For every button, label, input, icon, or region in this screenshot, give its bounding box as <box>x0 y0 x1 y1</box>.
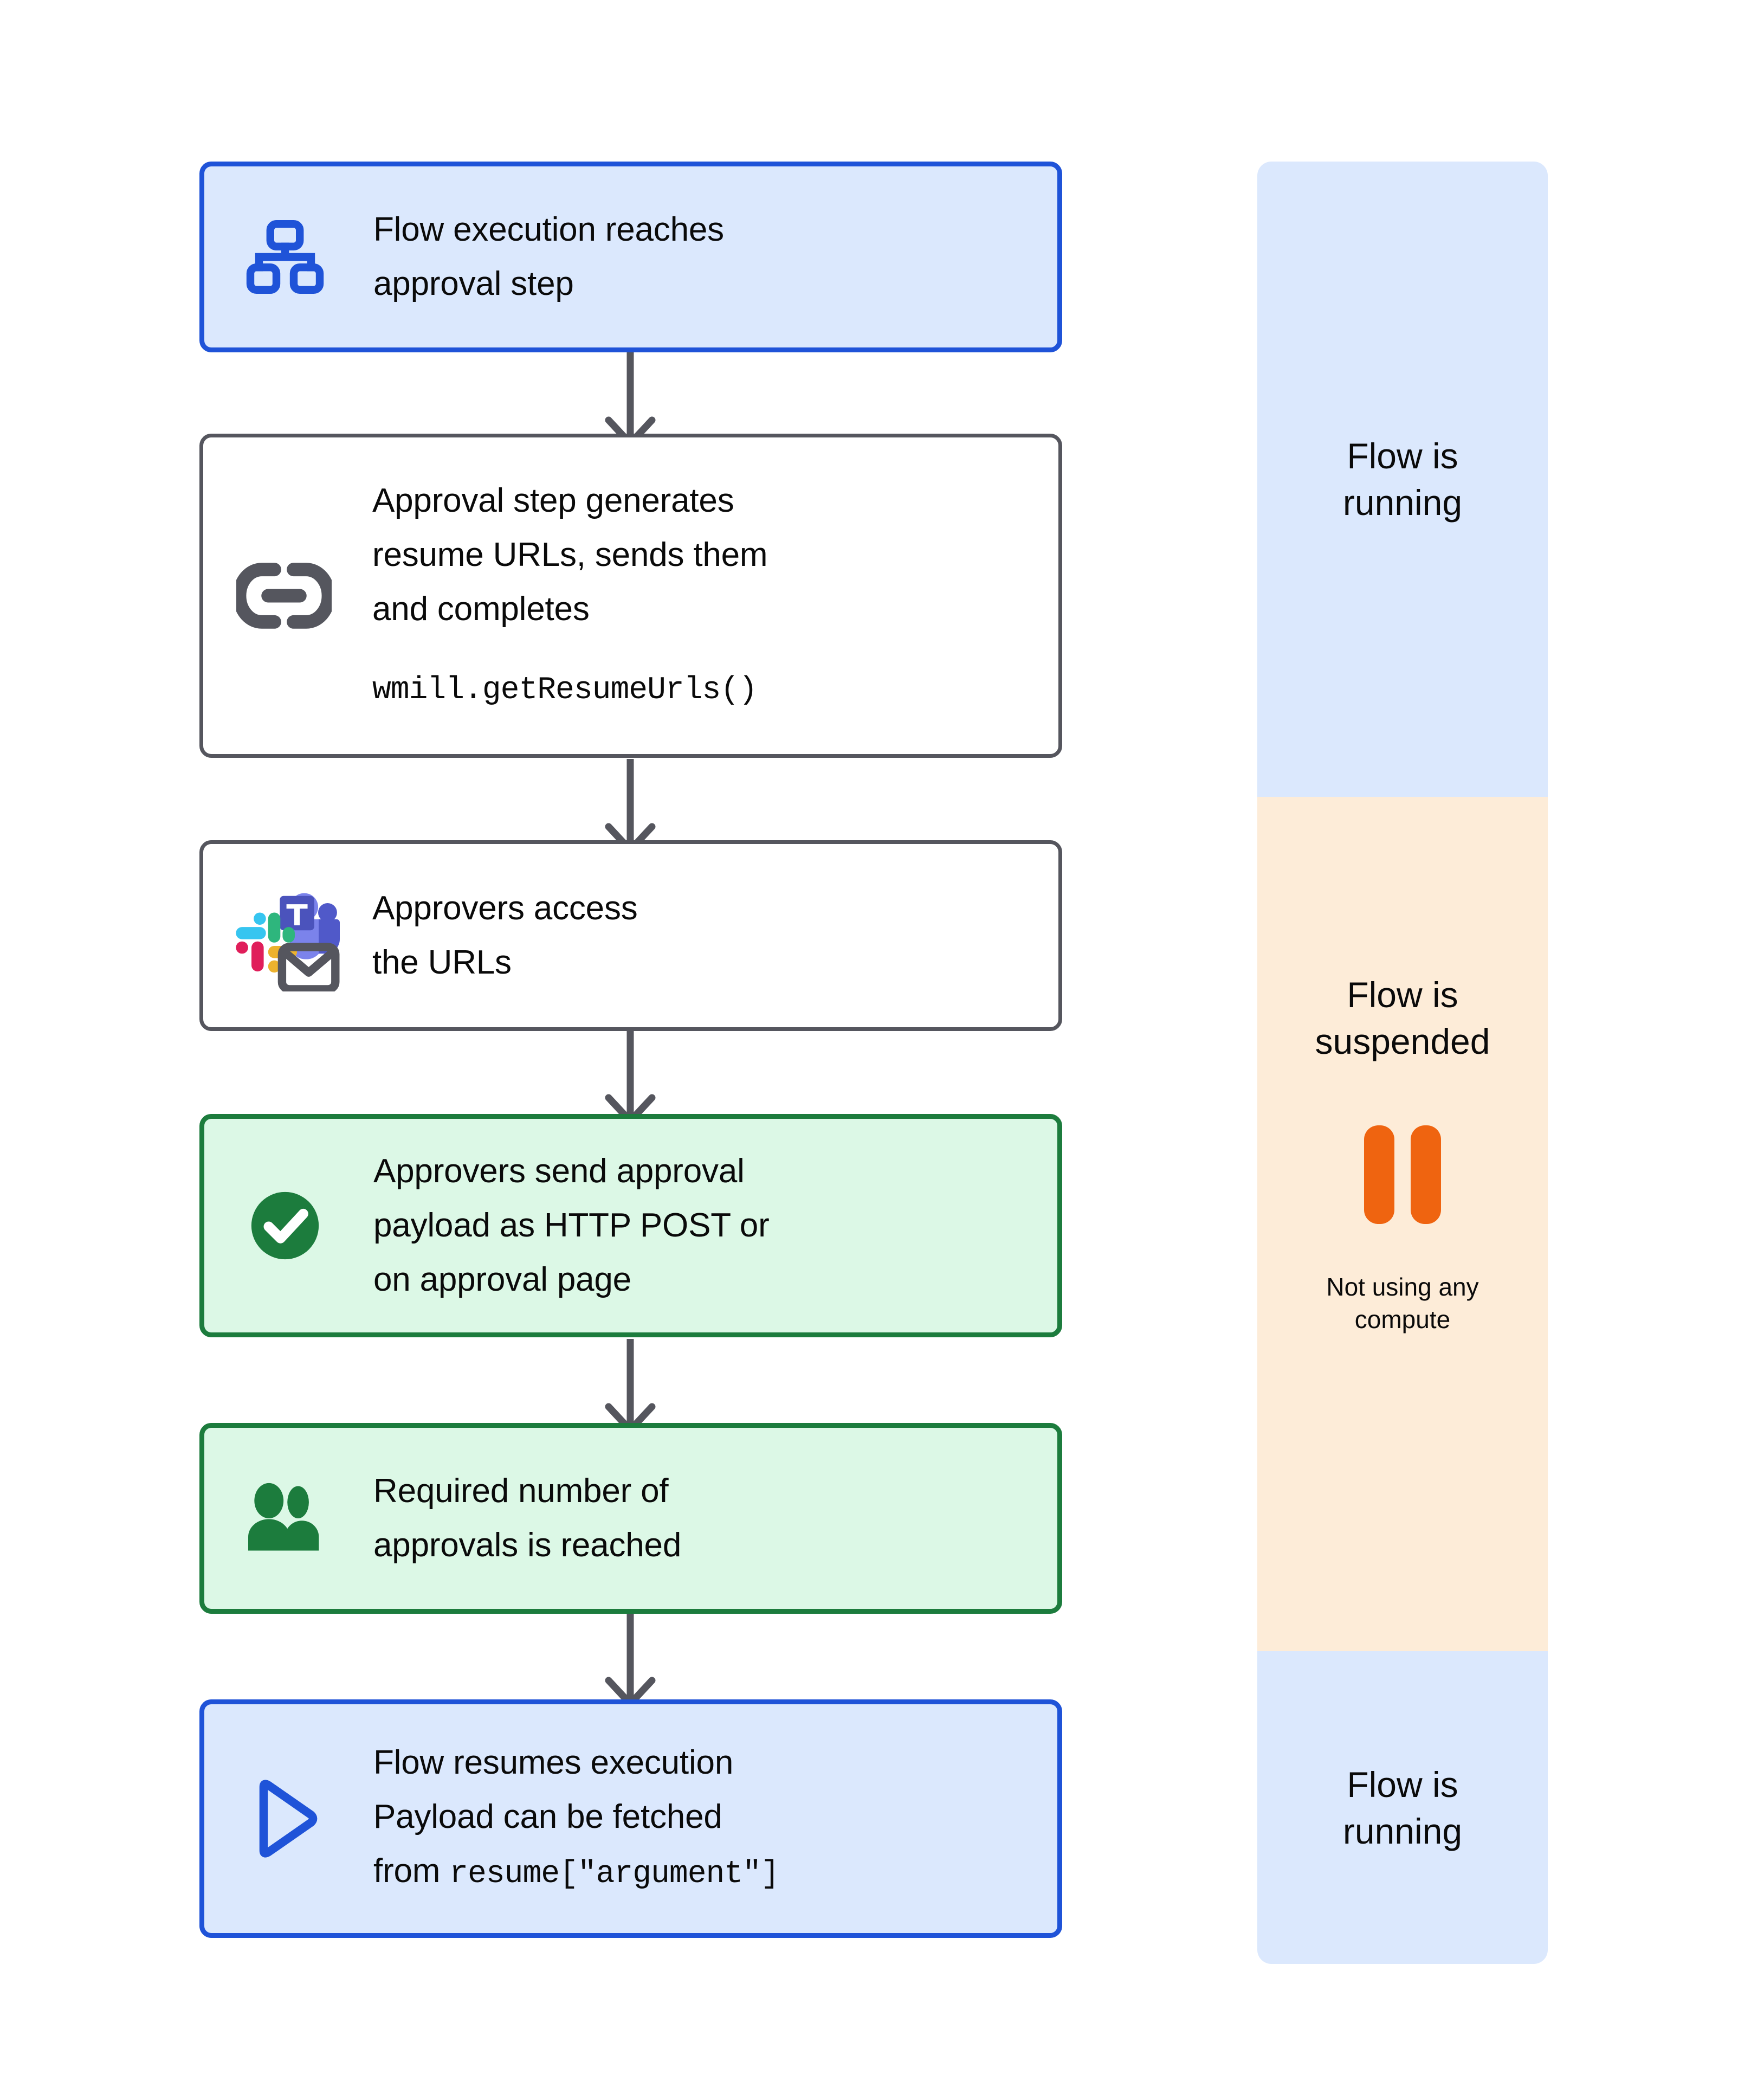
diagram-canvas: Flow execution reaches approval step App… <box>0 0 1751 2100</box>
flow-node-approvals-reached[interactable]: Required number of approvals is reached <box>199 1423 1062 1614</box>
node-line: and completes <box>372 590 590 628</box>
node-line: Required number of <box>373 1472 668 1510</box>
node-line: Approval step generates <box>372 482 734 519</box>
flow-node-label: Flow resumes execution Payload can be fe… <box>373 1736 1032 1902</box>
status-note: Not using any compute <box>1326 1271 1478 1336</box>
node-line: Flow resumes execution <box>373 1744 733 1781</box>
node-line: approvals is reached <box>373 1526 681 1564</box>
node-line: on approval page <box>373 1261 631 1298</box>
node-line: Flow execution reaches <box>373 211 724 248</box>
node-line: Payload can be fetched <box>373 1798 722 1835</box>
node-line: payload as HTTP POST or <box>373 1207 770 1244</box>
status-label: Flow is suspended <box>1315 971 1490 1065</box>
status-segment-suspended: Flow is suspended Not using any compute <box>1257 797 1548 1651</box>
node-line: Approvers access <box>372 890 638 927</box>
status-segment-running-bottom: Flow is running <box>1257 1651 1548 1964</box>
node-code-snippet: resume["argument"] <box>449 1857 779 1892</box>
check-circle-icon <box>228 1169 342 1283</box>
status-label: Flow is running <box>1343 433 1462 526</box>
hierarchy-icon <box>228 200 342 314</box>
flow-status-column: Flow is running Flow is suspended Not us… <box>1257 162 1548 1964</box>
flow-node-approvers-access-urls[interactable]: Approvers access the URLs <box>199 840 1062 1031</box>
flow-node-approvers-send-payload[interactable]: Approvers send approval payload as HTTP … <box>199 1114 1062 1337</box>
pause-icon <box>1364 1125 1441 1224</box>
flow-node-reach-approval-step[interactable]: Flow execution reaches approval step <box>199 162 1062 352</box>
flow-node-flow-resumes[interactable]: Flow resumes execution Payload can be fe… <box>199 1699 1062 1938</box>
node-line: resume URLs, sends them <box>372 536 767 574</box>
node-code-snippet: wmill.getResumeUrls() <box>372 673 757 708</box>
flow-node-generate-resume-urls[interactable]: Approval step generates resume URLs, sen… <box>199 434 1062 758</box>
flow-node-label: Required number of approvals is reached <box>373 1464 1032 1573</box>
flow-node-label: Approvers send approval payload as HTTP … <box>373 1144 1032 1307</box>
node-code-prefix: from <box>373 1852 449 1890</box>
status-segment-running-top: Flow is running <box>1257 162 1548 797</box>
node-line: the URLs <box>372 944 512 981</box>
flow-node-label: Flow execution reaches approval step <box>373 203 1032 311</box>
slack-teams-email-icon <box>227 879 341 993</box>
flow-node-label: Approvers access the URLs <box>372 881 1033 990</box>
node-line: Approvers send approval <box>373 1152 745 1190</box>
flow-node-label: Approval step generates resume URLs, sen… <box>372 474 1033 718</box>
pause-bar-right <box>1411 1125 1441 1224</box>
pause-bar-left <box>1364 1125 1394 1224</box>
play-icon <box>228 1762 342 1876</box>
link-icon <box>227 539 341 653</box>
status-label: Flow is running <box>1343 1761 1462 1854</box>
users-icon <box>228 1461 342 1575</box>
node-line: approval step <box>373 265 574 302</box>
